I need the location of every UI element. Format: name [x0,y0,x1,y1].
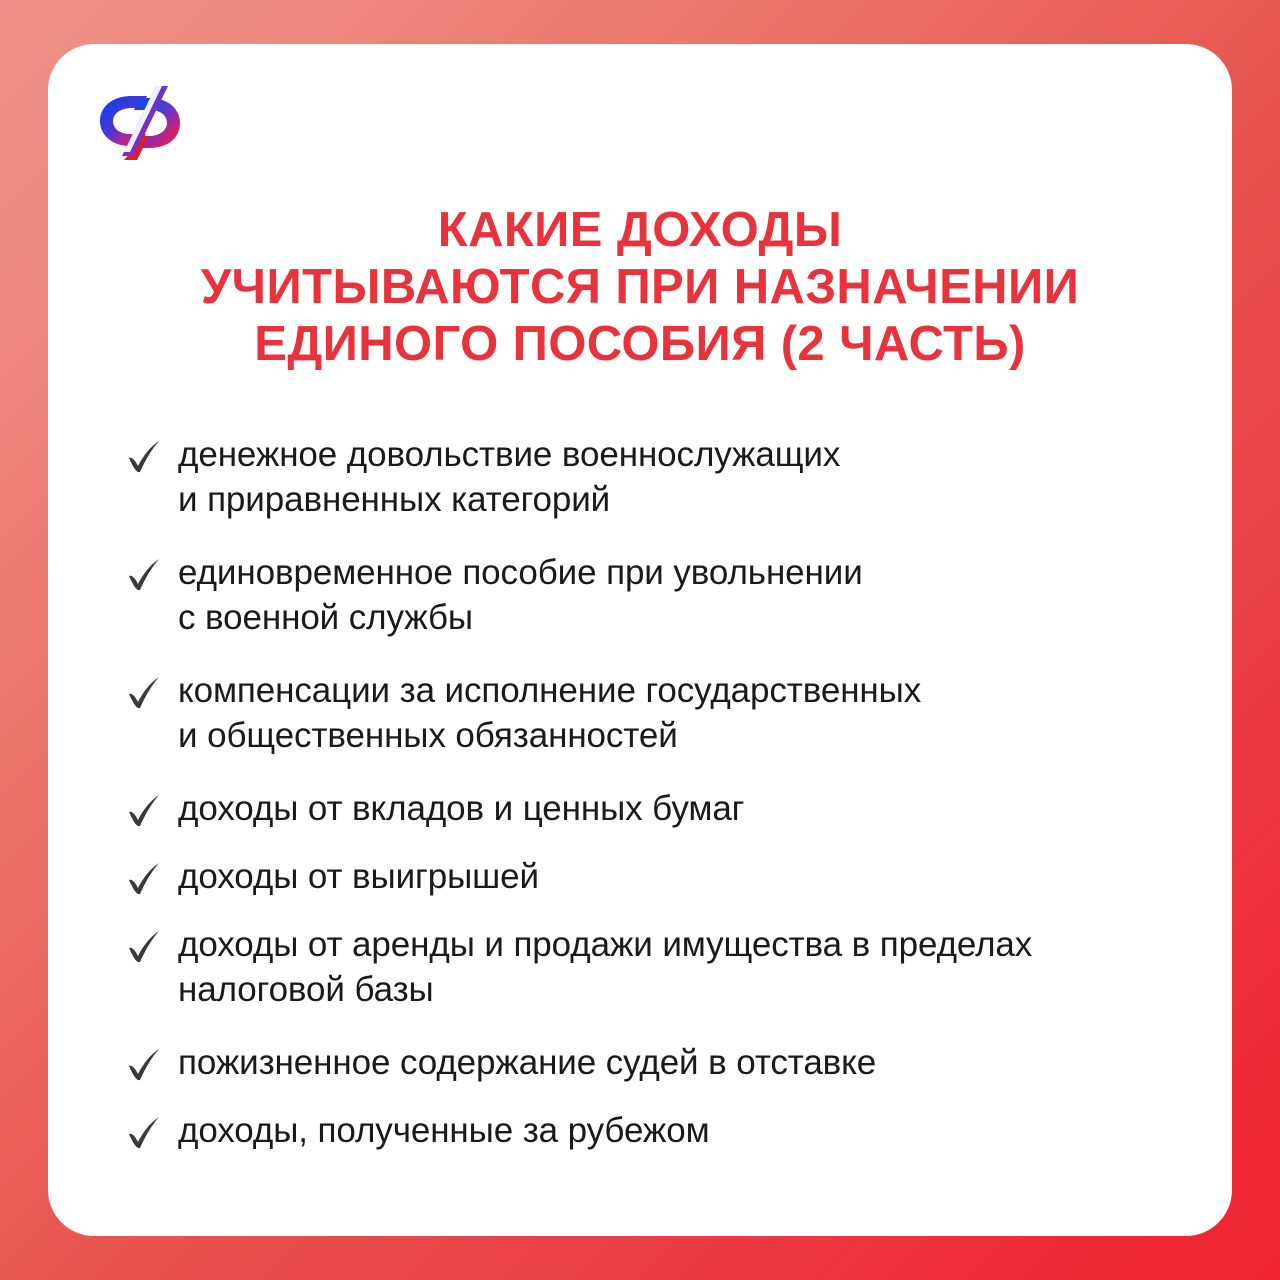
check-icon [124,438,164,478]
check-icon [124,860,164,900]
check-icon [124,928,164,968]
title-line-3: ЕДИНОГО ПОСОБИЯ (2 ЧАСТЬ) [88,316,1192,373]
check-icon [124,1114,164,1154]
check-icon [124,674,164,714]
title-line-2: УЧИТЫВАЮТСЯ ПРИ НАЗНАЧЕНИИ [88,259,1192,316]
check-icon [124,1046,164,1086]
list-item: единовременное пособие при увольнении с … [124,550,1200,640]
list-item: доходы от аренды и продажи имущества в п… [124,922,1200,1012]
check-icon [124,792,164,832]
title-line-1: КАКИЕ ДОХОДЫ [88,202,1192,259]
list-item-label: доходы от аренды и продажи имущества в п… [178,922,1032,1012]
sfr-logo [94,80,186,164]
content-card: КАКИЕ ДОХОДЫ УЧИТЫВАЮТСЯ ПРИ НАЗНАЧЕНИИ … [48,44,1232,1236]
list-item-label: доходы, полученные за рубежом [178,1108,710,1153]
list-item-label: пожизненное содержание судей в отставке [178,1040,876,1085]
list-item-label: денежное довольствие военнослужащих и пр… [178,432,840,522]
list-item-label: компенсации за исполнение государственны… [178,668,921,758]
check-icon [124,556,164,596]
list-item-label: единовременное пособие при увольнении с … [178,550,863,640]
list-item: доходы, полученные за рубежом [124,1108,1200,1154]
list-item-label: доходы от выигрышей [178,854,539,899]
poster-background: КАКИЕ ДОХОДЫ УЧИТЫВАЮТСЯ ПРИ НАЗНАЧЕНИИ … [0,0,1280,1280]
page-title: КАКИЕ ДОХОДЫ УЧИТЫВАЮТСЯ ПРИ НАЗНАЧЕНИИ … [48,202,1232,373]
list-item: денежное довольствие военнослужащих и пр… [124,432,1200,522]
list-item: доходы от выигрышей [124,854,1200,900]
list-item: доходы от вкладов и ценных бумаг [124,786,1200,832]
income-types-list: денежное довольствие военнослужащих и пр… [124,432,1200,1154]
list-item: компенсации за исполнение государственны… [124,668,1200,758]
list-item-label: доходы от вкладов и ценных бумаг [178,786,744,831]
list-item: пожизненное содержание судей в отставке [124,1040,1200,1086]
